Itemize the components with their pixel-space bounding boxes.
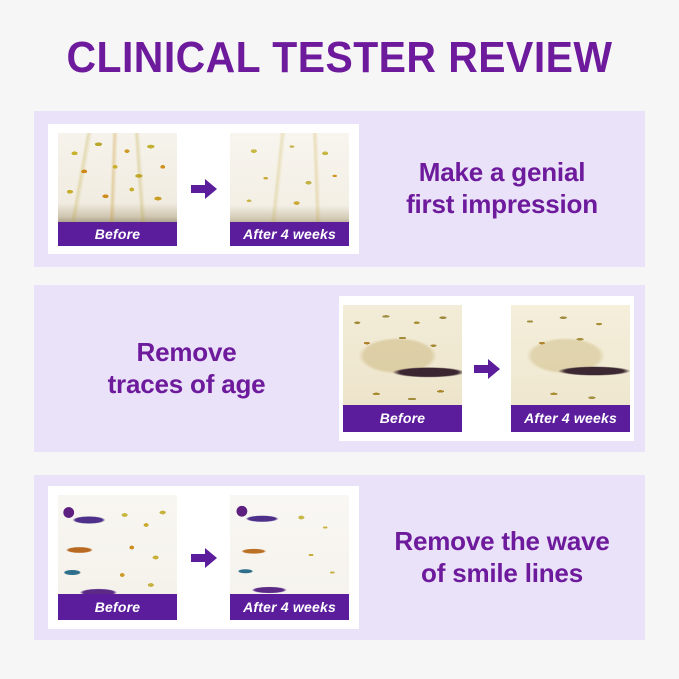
- after-caption: After 4 weeks: [230, 222, 349, 246]
- arrow-right-icon: [177, 546, 230, 570]
- panel-caption-line: first impression: [365, 189, 639, 221]
- before-after-card: Before After 4 weeks: [48, 486, 359, 629]
- panel-caption: Make a genial first impression: [359, 157, 645, 220]
- panel-caption-line: Remove: [40, 337, 333, 369]
- before-photo: Before: [58, 495, 177, 620]
- clinical-tester-review-infographic: CLINICAL TESTER REVIEW Before After 4 we…: [0, 0, 679, 679]
- after-photo: After 4 weeks: [230, 495, 349, 620]
- before-caption: Before: [343, 405, 462, 432]
- panel-caption: Remove traces of age: [34, 337, 339, 400]
- before-after-card: Before After 4 weeks: [339, 296, 634, 441]
- before-photo: Before: [343, 305, 462, 432]
- before-caption: Before: [58, 594, 177, 620]
- panel-caption: Remove the wave of smile lines: [359, 526, 645, 589]
- before-after-card: Before After 4 weeks: [48, 124, 359, 254]
- panel-caption-line: Remove the wave: [365, 526, 639, 558]
- after-photo: After 4 weeks: [230, 133, 349, 246]
- before-caption: Before: [58, 222, 177, 246]
- panel-traces-of-age: Before After 4 weeks Remove traces of ag…: [34, 285, 645, 452]
- panel-smile-lines: Before After 4 weeks Remove the wave of …: [34, 475, 645, 640]
- after-caption: After 4 weeks: [230, 594, 349, 620]
- panel-caption-line: traces of age: [40, 369, 333, 401]
- panel-caption-line: of smile lines: [365, 558, 639, 590]
- after-caption: After 4 weeks: [511, 405, 630, 432]
- before-photo: Before: [58, 133, 177, 246]
- after-photo: After 4 weeks: [511, 305, 630, 432]
- page-title: CLINICAL TESTER REVIEW: [24, 33, 655, 83]
- panel-caption-line: Make a genial: [365, 157, 639, 189]
- arrow-right-icon: [462, 357, 511, 381]
- panel-first-impression: Before After 4 weeks Make a genial first…: [34, 111, 645, 267]
- arrow-right-icon: [177, 177, 230, 201]
